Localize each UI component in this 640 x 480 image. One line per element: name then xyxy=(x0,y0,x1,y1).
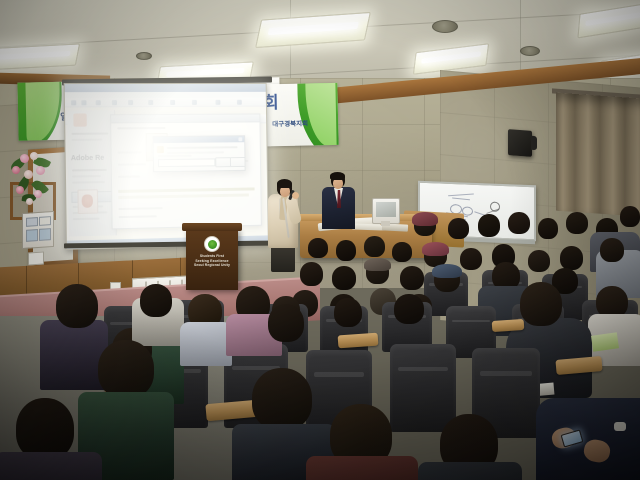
dialog-titlebar xyxy=(154,136,245,143)
audience-head xyxy=(56,284,98,328)
audience-head xyxy=(400,266,424,290)
audience-head xyxy=(300,262,323,286)
audience-head xyxy=(460,248,482,270)
audience-head xyxy=(140,284,172,317)
audience-head xyxy=(566,212,588,234)
podium-motto-line3: Seoul Regional Unity xyxy=(186,263,238,268)
university-emblem-icon xyxy=(204,236,220,252)
window-curtain xyxy=(556,93,640,218)
audience-head xyxy=(16,398,74,460)
banner-org: 대구경북지회 xyxy=(272,117,308,128)
audience-head xyxy=(538,218,558,239)
speaker-woman-hair xyxy=(277,179,292,188)
audience-cap xyxy=(432,264,462,278)
podium: Students First Seeking Excellence Seoul … xyxy=(186,228,238,290)
audience-head xyxy=(98,340,154,398)
seat-armrest xyxy=(338,333,379,349)
audience-head xyxy=(478,214,500,237)
audience-head xyxy=(620,206,640,227)
audience-head xyxy=(308,238,328,258)
audience-head xyxy=(252,368,312,430)
audience-head xyxy=(332,266,356,290)
window-toolbar xyxy=(65,98,266,108)
ceiling-speaker-icon xyxy=(136,52,152,60)
audience-head xyxy=(560,246,583,270)
ceiling-speaker-icon xyxy=(432,20,458,33)
pdf-file-icon xyxy=(77,189,98,214)
audience-head xyxy=(508,212,530,234)
dialog-ok-button[interactable] xyxy=(215,157,231,167)
warning-icon xyxy=(157,146,164,153)
lecture-hall-photo: 2 일시 술대회 대구경북지회 Adobe Re xyxy=(0,0,640,480)
wristwatch-icon xyxy=(614,422,626,431)
audience-head xyxy=(334,298,362,327)
dialog-input-field[interactable] xyxy=(158,158,215,167)
audience-torso xyxy=(0,452,102,480)
wall-control-panel[interactable] xyxy=(22,211,54,249)
ceiling-speaker-icon xyxy=(520,46,540,56)
speaker-man-hair xyxy=(330,172,345,180)
audience-cap xyxy=(422,242,449,256)
document-window-titlebar xyxy=(111,114,259,123)
audience-torso xyxy=(306,456,418,480)
audience-cap xyxy=(412,212,438,226)
adobe-logo-icon xyxy=(73,113,87,126)
wall-speaker-icon xyxy=(508,129,532,157)
speaker-woman-hand xyxy=(292,192,299,199)
adobe-app-label: Adobe Re xyxy=(71,155,104,163)
wall-outlet xyxy=(28,251,44,265)
floral-arrangement xyxy=(6,148,58,210)
audience-torso xyxy=(418,462,522,480)
auditorium-seat[interactable] xyxy=(390,344,456,432)
audience-cap xyxy=(364,258,391,271)
dialog-cancel-button[interactable] xyxy=(230,157,246,167)
monitor-stand xyxy=(381,221,390,226)
speaker-woman-legs xyxy=(271,246,295,272)
seat-armrest xyxy=(555,356,602,375)
audience-head xyxy=(336,240,356,261)
audience-head xyxy=(364,236,385,257)
audience-head xyxy=(448,218,469,239)
audience-head xyxy=(528,250,550,272)
seat-armrest xyxy=(492,319,525,332)
audience-head xyxy=(392,242,412,262)
audience-head xyxy=(520,282,562,326)
podium-motto: Students First Seeking Excellence Seoul … xyxy=(186,254,238,268)
audience-head xyxy=(394,294,424,324)
modal-dialog[interactable] xyxy=(153,135,246,172)
audience-torso xyxy=(180,322,232,366)
audience-head xyxy=(268,304,304,342)
audience-head xyxy=(600,238,624,262)
